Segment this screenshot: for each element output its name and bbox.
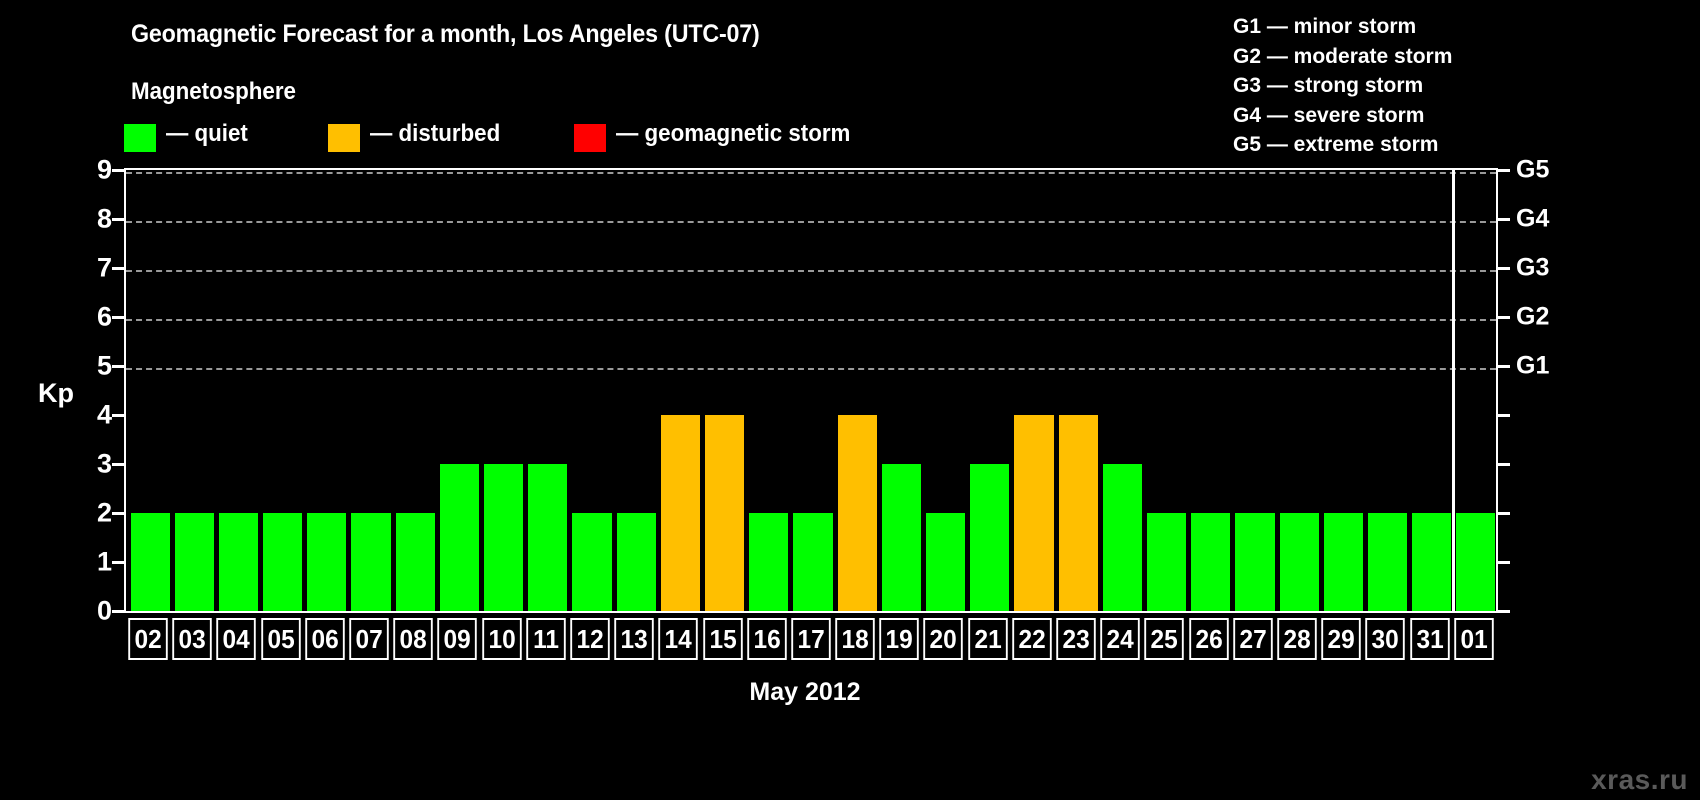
x-axis-title-text: May 2012 xyxy=(749,678,860,707)
day-label-19: 19 xyxy=(880,618,920,660)
y-tick-4 xyxy=(112,414,124,417)
y-tick-1 xyxy=(112,561,124,564)
y-tick-label-5: 5 xyxy=(97,351,112,382)
g-legend-row-2: G2 — moderate storm xyxy=(1233,42,1452,72)
right-tick-2 xyxy=(1498,512,1510,515)
day-label-11: 11 xyxy=(526,618,566,660)
legend-label-disturbed: — disturbed xyxy=(370,120,500,148)
right-tick-3 xyxy=(1498,463,1510,466)
legend-swatch-quiet xyxy=(124,124,156,152)
day-label-10: 10 xyxy=(482,618,522,660)
bar-day-16 xyxy=(749,513,788,611)
bar-day-23 xyxy=(1059,415,1098,611)
day-label-15: 15 xyxy=(703,618,743,660)
day-label-29: 29 xyxy=(1321,618,1361,660)
day-label-03: 03 xyxy=(172,618,212,660)
bar-day-11 xyxy=(528,464,567,611)
y-tick-5 xyxy=(112,365,124,368)
day-label-24: 24 xyxy=(1101,618,1141,660)
bar-day-03 xyxy=(175,513,214,611)
day-label-01: 01 xyxy=(1454,618,1494,660)
bar-day-12 xyxy=(572,513,611,611)
bar-day-13 xyxy=(617,513,656,611)
bar-day-21 xyxy=(970,464,1009,611)
g-legend-row-5: G5 — extreme storm xyxy=(1233,130,1452,160)
bar-day-09 xyxy=(440,464,479,611)
x-axis-title: May 2012 xyxy=(0,678,1700,707)
bar-day-17 xyxy=(793,513,832,611)
bar-day-15 xyxy=(705,415,744,611)
bar-day-19 xyxy=(882,464,921,611)
page-title: Geomagnetic Forecast for a month, Los An… xyxy=(131,20,760,49)
day-label-04: 04 xyxy=(217,618,257,660)
day-label-18: 18 xyxy=(835,618,875,660)
right-tick-4 xyxy=(1498,414,1510,417)
day-label-26: 26 xyxy=(1189,618,1229,660)
y-tick-label-6: 6 xyxy=(97,302,112,333)
plot-area xyxy=(124,168,1498,613)
y-tick-label-3: 3 xyxy=(97,449,112,480)
g-tick-label-G1: G1 xyxy=(1516,352,1549,381)
bar-day-14 xyxy=(661,415,700,611)
bar-day-27 xyxy=(1235,513,1274,611)
right-tick-8 xyxy=(1498,218,1510,221)
g-tick-label-G5: G5 xyxy=(1516,156,1549,185)
bar-series xyxy=(126,170,1496,611)
g-legend-row-3: G3 — strong storm xyxy=(1233,71,1452,101)
g-legend-row-1: G1 — minor storm xyxy=(1233,12,1452,42)
day-label-28: 28 xyxy=(1277,618,1317,660)
y-tick-7 xyxy=(112,267,124,270)
day-label-08: 08 xyxy=(393,618,433,660)
bar-day-20 xyxy=(926,513,965,611)
y-tick-label-4: 4 xyxy=(97,400,112,431)
watermark: xras.ru xyxy=(1591,764,1688,796)
legend-heading: Magnetosphere xyxy=(131,78,296,106)
legend-swatch-disturbed xyxy=(328,124,360,152)
bar-day-04 xyxy=(219,513,258,611)
y-tick-label-7: 7 xyxy=(97,253,112,284)
day-label-13: 13 xyxy=(614,618,654,660)
day-label-07: 07 xyxy=(349,618,389,660)
month-separator-line xyxy=(1452,170,1455,611)
bar-day-24 xyxy=(1103,464,1142,611)
day-label-25: 25 xyxy=(1145,618,1185,660)
g-tick-label-G3: G3 xyxy=(1516,254,1549,283)
g-legend-row-4: G4 — severe storm xyxy=(1233,101,1452,131)
right-tick-5 xyxy=(1498,365,1510,368)
y-tick-9 xyxy=(112,169,124,172)
bar-day-18 xyxy=(838,415,877,611)
bar-day-08 xyxy=(396,513,435,611)
bar-day-28 xyxy=(1280,513,1319,611)
bar-day-02 xyxy=(131,513,170,611)
bar-day-07 xyxy=(351,513,390,611)
legend-label-quiet: — quiet xyxy=(166,120,248,148)
day-label-17: 17 xyxy=(791,618,831,660)
day-label-27: 27 xyxy=(1233,618,1273,660)
g-scale-legend: G1 — minor stormG2 — moderate stormG3 — … xyxy=(1233,12,1452,160)
bar-day-31 xyxy=(1412,513,1451,611)
day-label-09: 09 xyxy=(438,618,478,660)
g-tick-label-G4: G4 xyxy=(1516,205,1549,234)
day-label-02: 02 xyxy=(128,618,168,660)
y-tick-label-8: 8 xyxy=(97,204,112,235)
y-tick-3 xyxy=(112,463,124,466)
right-tick-9 xyxy=(1498,169,1510,172)
day-label-22: 22 xyxy=(1012,618,1052,660)
y-tick-label-1: 1 xyxy=(97,547,112,578)
bar-day-10 xyxy=(484,464,523,611)
day-label-14: 14 xyxy=(659,618,699,660)
y-axis-title: Kp xyxy=(38,378,74,409)
day-label-20: 20 xyxy=(924,618,964,660)
bar-day-26 xyxy=(1191,513,1230,611)
day-label-16: 16 xyxy=(747,618,787,660)
day-label-06: 06 xyxy=(305,618,345,660)
y-tick-label-0: 0 xyxy=(97,596,112,627)
bar-day-25 xyxy=(1147,513,1186,611)
day-label-12: 12 xyxy=(570,618,610,660)
right-tick-6 xyxy=(1498,316,1510,319)
legend-swatch-geomagnetic-storm xyxy=(574,124,606,152)
day-label-30: 30 xyxy=(1366,618,1406,660)
y-tick-6 xyxy=(112,316,124,319)
day-label-21: 21 xyxy=(968,618,1008,660)
bar-day-29 xyxy=(1324,513,1363,611)
day-label-31: 31 xyxy=(1410,618,1450,660)
day-label-23: 23 xyxy=(1056,618,1096,660)
bar-day-01 xyxy=(1456,513,1495,611)
bar-day-30 xyxy=(1368,513,1407,611)
y-tick-0 xyxy=(112,610,124,613)
g-tick-label-G2: G2 xyxy=(1516,303,1549,332)
bar-day-05 xyxy=(263,513,302,611)
right-tick-1 xyxy=(1498,561,1510,564)
right-tick-7 xyxy=(1498,267,1510,270)
y-tick-8 xyxy=(112,218,124,221)
legend-label-geomagnetic-storm: — geomagnetic storm xyxy=(616,120,850,148)
bar-day-22 xyxy=(1014,415,1053,611)
y-tick-label-2: 2 xyxy=(97,498,112,529)
day-label-05: 05 xyxy=(261,618,301,660)
y-tick-label-9: 9 xyxy=(97,155,112,186)
right-tick-0 xyxy=(1498,610,1510,613)
y-tick-2 xyxy=(112,512,124,515)
bar-day-06 xyxy=(307,513,346,611)
